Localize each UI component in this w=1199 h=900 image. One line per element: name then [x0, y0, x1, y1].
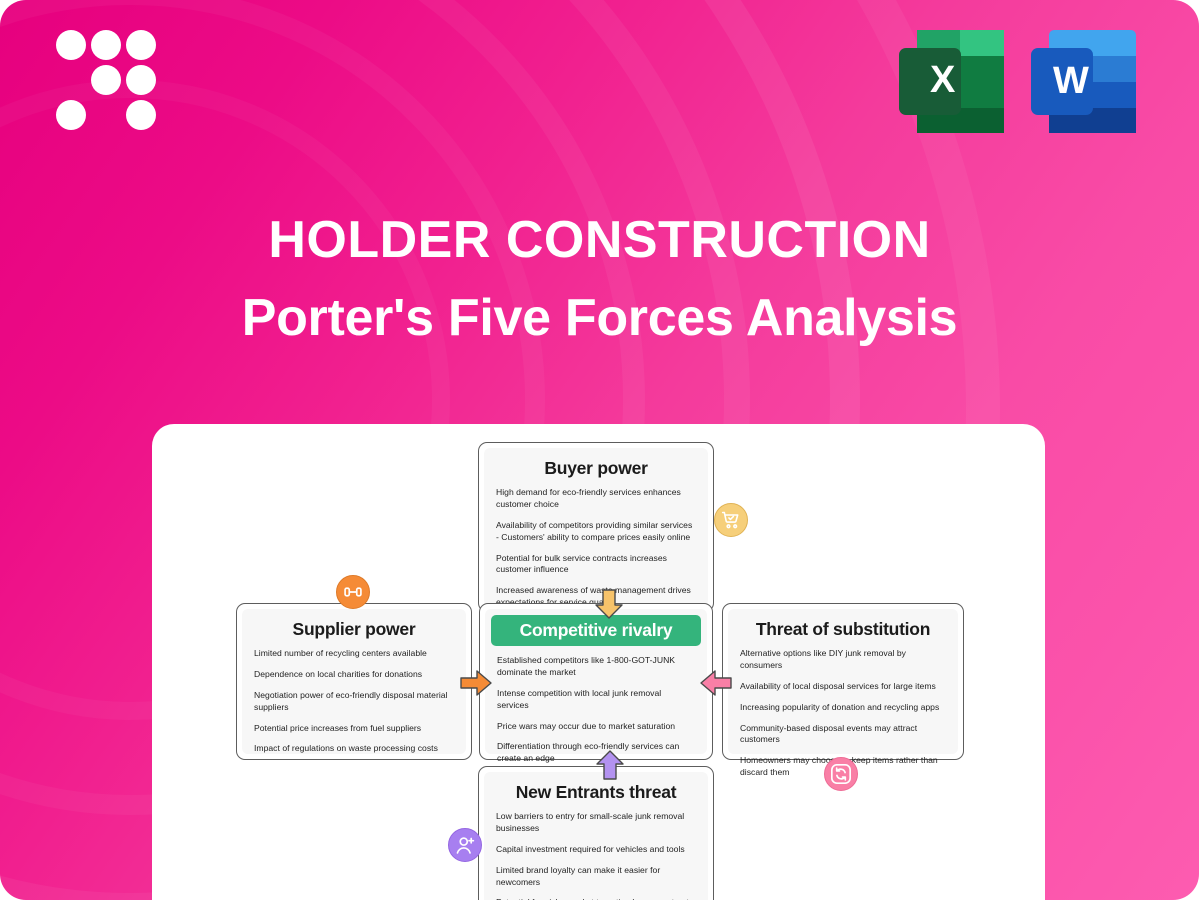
arrow-buyer-to-rivalry-icon — [594, 589, 624, 619]
force-box-buyer-power[interactable]: Buyer power High demand for eco-friendly… — [478, 442, 714, 612]
logo-dot — [91, 65, 121, 95]
force-title-supplier-power: Supplier power — [254, 619, 454, 639]
title-block: HOLDER CONSTRUCTION Porter's Five Forces… — [0, 214, 1199, 344]
shopping-cart-icon[interactable] — [714, 503, 748, 537]
word-icon[interactable]: W — [1031, 30, 1136, 133]
force-point: Availability of local disposal services … — [740, 681, 946, 693]
force-point: Alternative options like DIY junk remova… — [740, 648, 946, 672]
logo-dot — [91, 30, 121, 60]
force-point: Price wars may occur due to market satur… — [497, 721, 695, 733]
company-title: HOLDER CONSTRUCTION — [0, 214, 1199, 266]
force-title-threat-of-substitution: Threat of substitution — [740, 619, 946, 639]
force-points-new-entrants-threat: Low barriers to entry for small-scale ju… — [496, 811, 696, 900]
force-inner: Supplier power Limited number of recycli… — [242, 609, 466, 754]
svg-text:W: W — [1053, 60, 1089, 102]
force-point: Low barriers to entry for small-scale ju… — [496, 811, 696, 835]
force-point: Community-based disposal events may attr… — [740, 723, 946, 747]
force-box-threat-of-substitution[interactable]: Threat of substitution Alternative optio… — [722, 603, 964, 760]
force-points-supplier-power: Limited number of recycling centers avai… — [254, 648, 454, 755]
arrow-entrants-to-rivalry-icon — [595, 750, 625, 780]
force-point: Potential price increases from fuel supp… — [254, 723, 454, 735]
force-point: High demand for eco-friendly services en… — [496, 487, 696, 511]
force-point: Intense competition with local junk remo… — [497, 688, 695, 712]
logo-dot — [56, 100, 86, 130]
force-inner: Competitive rivalry Established competit… — [485, 609, 707, 754]
force-point: Negotiation power of eco-friendly dispos… — [254, 690, 454, 714]
logo-dot — [126, 30, 156, 60]
user-plus-icon[interactable] — [448, 828, 482, 862]
arrow-supplier-to-rivalry-icon — [460, 669, 492, 697]
document-title: Porter's Five Forces Analysis — [0, 292, 1199, 344]
svg-text:X: X — [930, 59, 956, 101]
link-barbell-icon[interactable] — [336, 575, 370, 609]
force-point: Increasing popularity of donation and re… — [740, 702, 946, 714]
excel-icon[interactable]: X — [899, 30, 1004, 133]
force-title-competitive-rivalry: Competitive rivalry — [491, 615, 701, 646]
force-point: Capital investment required for vehicles… — [496, 844, 696, 856]
holder-dots-logo — [56, 30, 156, 130]
force-point: Established competitors like 1-800-GOT-J… — [497, 655, 695, 679]
logo-dot — [126, 65, 156, 95]
refresh-sync-icon[interactable] — [824, 757, 858, 791]
force-point: Limited number of recycling centers avai… — [254, 648, 454, 660]
force-inner: Threat of substitution Alternative optio… — [728, 609, 958, 754]
force-point: Availability of competitors providing si… — [496, 520, 696, 544]
arrow-substitution-to-rivalry-icon — [700, 669, 732, 697]
force-box-competitive-rivalry[interactable]: Competitive rivalry Established competit… — [479, 603, 713, 760]
force-point: Dependence on local charities for donati… — [254, 669, 454, 681]
force-title-buyer-power: Buyer power — [496, 458, 696, 478]
force-box-supplier-power[interactable]: Supplier power Limited number of recycli… — [236, 603, 472, 760]
force-point: Limited brand loyalty can make it easier… — [496, 865, 696, 889]
force-inner: Buyer power High demand for eco-friendly… — [484, 448, 708, 606]
logo-dot — [126, 100, 156, 130]
force-box-new-entrants-threat[interactable]: New Entrants threat Low barriers to entr… — [478, 766, 714, 900]
force-point: Potential for bulk service contracts inc… — [496, 553, 696, 577]
force-inner: New Entrants threat Low barriers to entr… — [484, 772, 708, 900]
force-point: Impact of regulations on waste processin… — [254, 743, 454, 755]
logo-dot — [56, 30, 86, 60]
slide-page: X W HOLDER CONSTRUCTION Porter's Five Fo… — [0, 0, 1199, 900]
force-title-new-entrants-threat: New Entrants threat — [496, 782, 696, 802]
diagram-canvas: Buyer power High demand for eco-friendly… — [152, 424, 1045, 900]
